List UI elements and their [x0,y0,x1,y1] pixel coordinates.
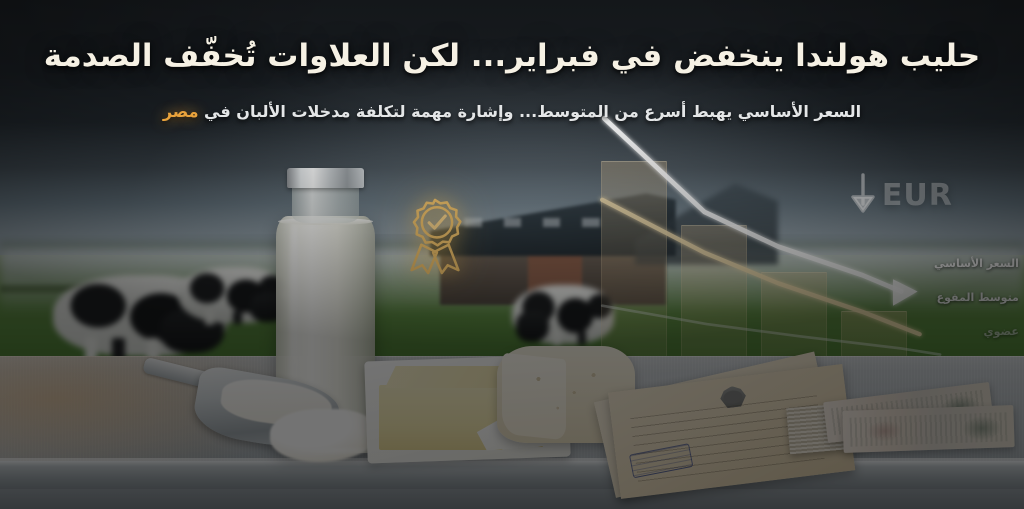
grazing-cow [179,267,287,323]
milk-powder-scoop [143,361,348,453]
award-rosette-check-icon [399,196,471,274]
legend-label: متوسط المفوع [937,291,1019,304]
cow-leg [578,331,586,345]
barn-window [543,218,560,227]
currency-code: EUR [882,178,953,213]
infographic-banner: السعر الأساسي متوسط المفوع عضوي EUR [0,0,1024,509]
table-front-panel [0,489,1024,509]
quality-badge [399,196,471,274]
barn-window [504,218,521,227]
legend-label: عضوي [984,325,1019,338]
page-subtitle: السعر الأساسي يهبط أسرع من المتوسط... وإ… [0,100,1024,124]
arrow-down-icon [850,173,876,217]
banknote [842,405,1015,453]
cow-head [516,311,549,343]
egyptian-banknotes [788,387,1013,468]
legend-item-organic: عضوي [876,320,1019,339]
page-title: حليب هولندا ينخفض في فبراير... لكن العلا… [0,36,1024,78]
chart-legend: السعر الأساسي متوسط المفوع عضوي [876,252,1019,354]
legend-label: السعر الأساسي [934,257,1019,270]
cow-leg [205,311,214,326]
cow-leg [553,331,561,346]
currency-indicator: EUR [850,173,953,217]
legend-item-base-price: السعر الأساسي [876,252,1019,271]
highlighted-country: مصر [163,102,199,121]
bottle-cap [287,168,364,188]
bottle-neck [292,186,359,223]
legend-item-average-paid: متوسط المفوع [876,286,1019,305]
cow-leg [233,311,242,324]
subtitle-text: السعر الأساسي يهبط أسرع من المتوسط... وإ… [204,102,861,121]
